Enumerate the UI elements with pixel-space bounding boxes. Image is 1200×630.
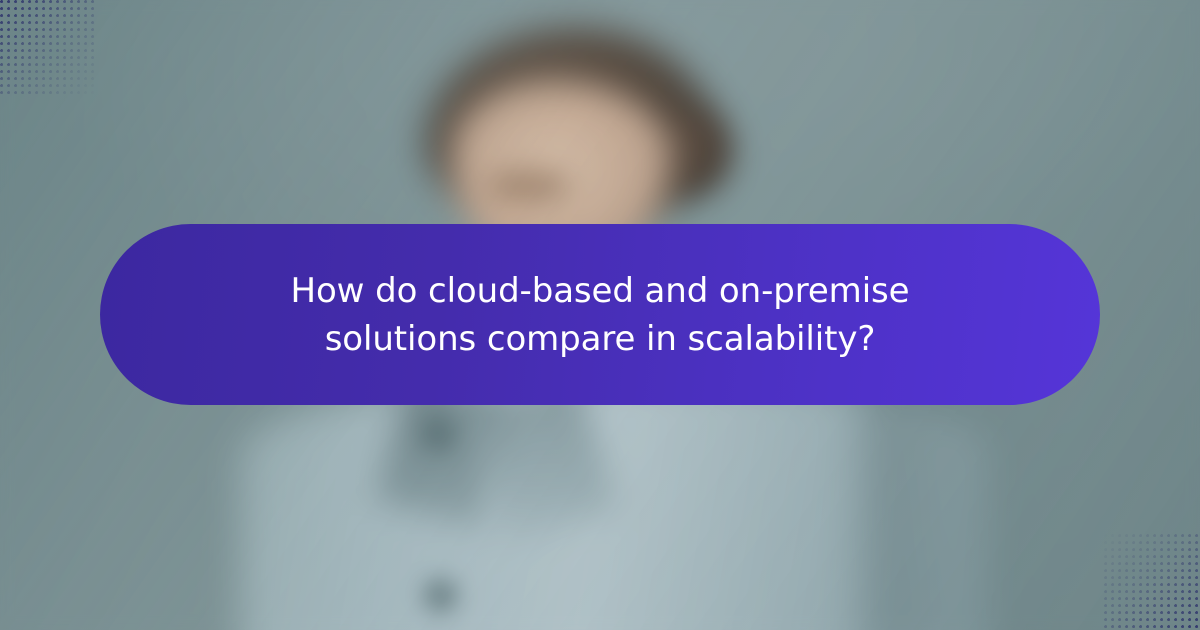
question-text: How do cloud-based and on-premise soluti… — [275, 267, 925, 363]
dot-grid-top-left — [0, 0, 96, 96]
social-card-canvas: How do cloud-based and on-premise soluti… — [0, 0, 1200, 630]
dot-grid-bottom-right — [1104, 534, 1200, 630]
question-banner: How do cloud-based and on-premise soluti… — [100, 224, 1100, 405]
